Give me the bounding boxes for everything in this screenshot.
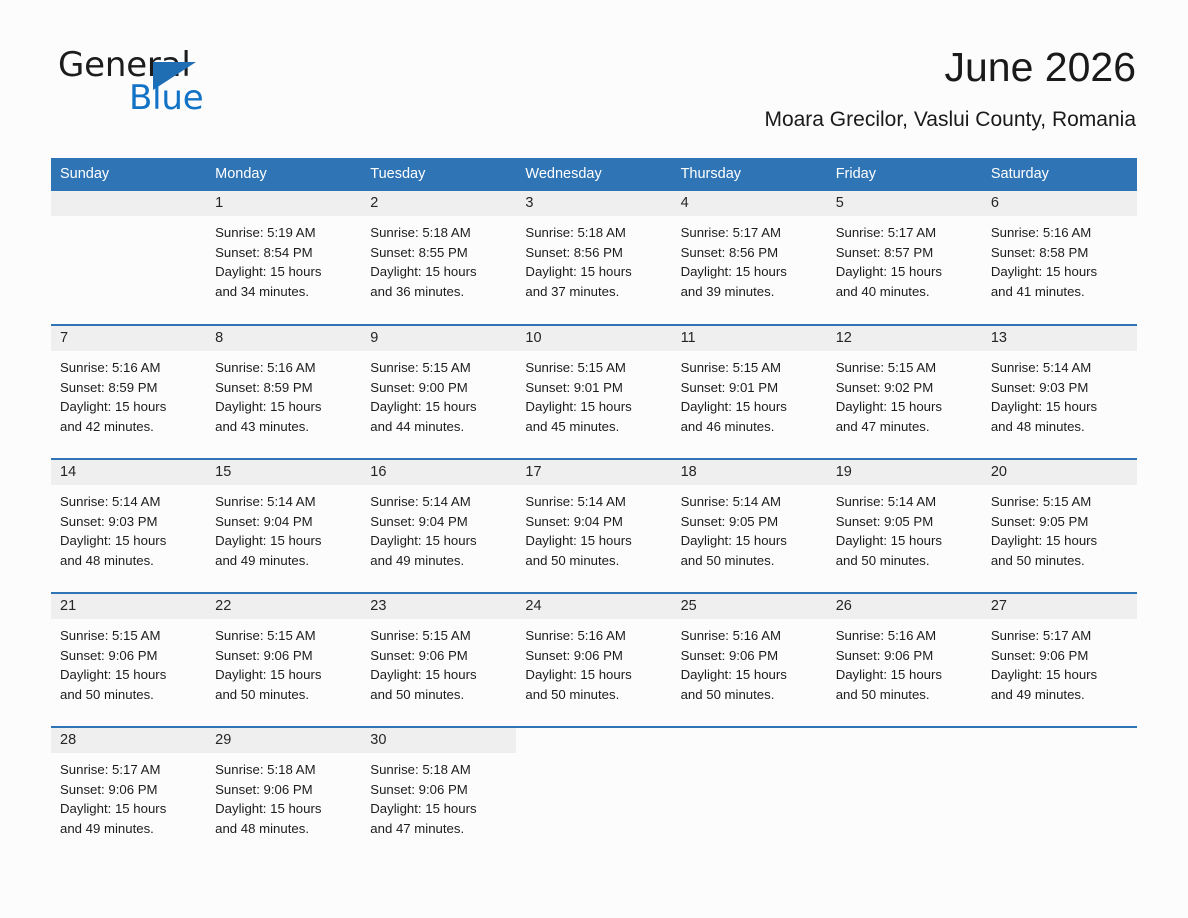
daylight-text: and 50 minutes. [60, 685, 196, 705]
day-sun-info: Sunrise: 5:19 AMSunset: 8:54 PMDaylight:… [206, 216, 361, 301]
sunrise-text: Sunrise: 5:16 AM [836, 626, 972, 646]
sunrise-text: Sunrise: 5:15 AM [836, 358, 972, 378]
daylight-text: Daylight: 15 hours [370, 665, 506, 685]
calendar-week-row: 7Sunrise: 5:16 AMSunset: 8:59 PMDaylight… [51, 325, 1137, 459]
calendar-page: General Blue June 2026 Moara Grecilor, V… [0, 0, 1188, 918]
sunrise-text: Sunrise: 5:16 AM [215, 358, 351, 378]
sunset-text: Sunset: 8:54 PM [215, 243, 351, 263]
day-sun-info: Sunrise: 5:15 AMSunset: 9:02 PMDaylight:… [827, 351, 982, 436]
sunrise-text: Sunrise: 5:17 AM [60, 760, 196, 780]
calendar-day-cell[interactable]: 20Sunrise: 5:15 AMSunset: 9:05 PMDayligh… [982, 459, 1137, 593]
sunrise-text: Sunrise: 5:15 AM [681, 358, 817, 378]
calendar-day-cell[interactable]: 11Sunrise: 5:15 AMSunset: 9:01 PMDayligh… [672, 325, 827, 459]
daylight-text: Daylight: 15 hours [370, 262, 506, 282]
sunset-text: Sunset: 9:06 PM [525, 646, 661, 666]
sunrise-text: Sunrise: 5:16 AM [681, 626, 817, 646]
sunset-text: Sunset: 9:01 PM [525, 378, 661, 398]
daylight-text: Daylight: 15 hours [215, 799, 351, 819]
daylight-text: and 50 minutes. [836, 685, 972, 705]
daylight-text: and 37 minutes. [525, 282, 661, 302]
calendar-day-cell[interactable]: 17Sunrise: 5:14 AMSunset: 9:04 PMDayligh… [516, 459, 671, 593]
daylight-text: and 50 minutes. [836, 551, 972, 571]
daylight-text: and 45 minutes. [525, 417, 661, 437]
calendar-day-cell[interactable]: 27Sunrise: 5:17 AMSunset: 9:06 PMDayligh… [982, 593, 1137, 727]
day-sun-info: Sunrise: 5:14 AMSunset: 9:05 PMDaylight:… [827, 485, 982, 570]
sunrise-text: Sunrise: 5:16 AM [60, 358, 196, 378]
location-subtitle: Moara Grecilor, Vaslui County, Romania [764, 108, 1136, 132]
weekday-header-tuesday: Tuesday [361, 158, 516, 191]
daylight-text: Daylight: 15 hours [681, 262, 817, 282]
calendar-day-cell[interactable]: 6Sunrise: 5:16 AMSunset: 8:58 PMDaylight… [982, 191, 1137, 325]
daylight-text: and 50 minutes. [215, 685, 351, 705]
daylight-text: Daylight: 15 hours [991, 262, 1127, 282]
calendar-empty-cell [516, 727, 671, 861]
calendar-day-cell[interactable]: 24Sunrise: 5:16 AMSunset: 9:06 PMDayligh… [516, 593, 671, 727]
day-number: 11 [672, 326, 827, 351]
sunset-text: Sunset: 9:02 PM [836, 378, 972, 398]
calendar-day-cell[interactable]: 25Sunrise: 5:16 AMSunset: 9:06 PMDayligh… [672, 593, 827, 727]
sunrise-text: Sunrise: 5:16 AM [525, 626, 661, 646]
sunrise-text: Sunrise: 5:15 AM [991, 492, 1127, 512]
daylight-text: Daylight: 15 hours [836, 665, 972, 685]
sunrise-text: Sunrise: 5:18 AM [525, 223, 661, 243]
calendar-day-cell[interactable]: 12Sunrise: 5:15 AMSunset: 9:02 PMDayligh… [827, 325, 982, 459]
sunset-text: Sunset: 8:55 PM [370, 243, 506, 263]
generalblue-logo[interactable]: General Blue [58, 48, 288, 118]
day-number: 2 [361, 191, 516, 216]
day-number: 16 [361, 460, 516, 485]
daylight-text: and 42 minutes. [60, 417, 196, 437]
calendar-empty-cell [982, 727, 1137, 861]
day-sun-info: Sunrise: 5:16 AMSunset: 8:59 PMDaylight:… [206, 351, 361, 436]
day-sun-info: Sunrise: 5:16 AMSunset: 9:06 PMDaylight:… [827, 619, 982, 704]
sunrise-text: Sunrise: 5:14 AM [370, 492, 506, 512]
day-number [982, 728, 1137, 753]
day-sun-info: Sunrise: 5:18 AMSunset: 8:55 PMDaylight:… [361, 216, 516, 301]
sunset-text: Sunset: 8:58 PM [991, 243, 1127, 263]
sunrise-text: Sunrise: 5:15 AM [60, 626, 196, 646]
sunrise-text: Sunrise: 5:15 AM [215, 626, 351, 646]
sunrise-text: Sunrise: 5:17 AM [836, 223, 972, 243]
daylight-text: and 44 minutes. [370, 417, 506, 437]
sunset-text: Sunset: 9:06 PM [215, 646, 351, 666]
weekday-header-monday: Monday [206, 158, 361, 191]
daylight-text: Daylight: 15 hours [525, 397, 661, 417]
daylight-text: and 48 minutes. [991, 417, 1127, 437]
day-number: 22 [206, 594, 361, 619]
sunset-text: Sunset: 8:59 PM [215, 378, 351, 398]
day-number: 5 [827, 191, 982, 216]
sunrise-text: Sunrise: 5:18 AM [370, 223, 506, 243]
day-number: 7 [51, 326, 206, 351]
day-sun-info: Sunrise: 5:15 AMSunset: 9:01 PMDaylight:… [672, 351, 827, 436]
daylight-text: Daylight: 15 hours [836, 262, 972, 282]
day-number: 27 [982, 594, 1137, 619]
daylight-text: Daylight: 15 hours [681, 531, 817, 551]
daylight-text: Daylight: 15 hours [525, 531, 661, 551]
day-sun-info: Sunrise: 5:15 AMSunset: 9:06 PMDaylight:… [206, 619, 361, 704]
day-number: 8 [206, 326, 361, 351]
calendar-day-cell[interactable]: 21Sunrise: 5:15 AMSunset: 9:06 PMDayligh… [51, 593, 206, 727]
page-title: June 2026 [944, 44, 1136, 90]
daylight-text: and 36 minutes. [370, 282, 506, 302]
calendar-day-cell[interactable]: 14Sunrise: 5:14 AMSunset: 9:03 PMDayligh… [51, 459, 206, 593]
calendar-day-cell[interactable]: 28Sunrise: 5:17 AMSunset: 9:06 PMDayligh… [51, 727, 206, 861]
sunset-text: Sunset: 9:06 PM [991, 646, 1127, 666]
day-sun-info: Sunrise: 5:16 AMSunset: 8:59 PMDaylight:… [51, 351, 206, 436]
calendar-day-cell[interactable]: 3Sunrise: 5:18 AMSunset: 8:56 PMDaylight… [516, 191, 671, 325]
calendar-day-cell[interactable]: 10Sunrise: 5:15 AMSunset: 9:01 PMDayligh… [516, 325, 671, 459]
day-sun-info: Sunrise: 5:17 AMSunset: 9:06 PMDaylight:… [51, 753, 206, 838]
daylight-text: and 50 minutes. [525, 551, 661, 571]
sunset-text: Sunset: 9:06 PM [215, 780, 351, 800]
day-number: 12 [827, 326, 982, 351]
daylight-text: Daylight: 15 hours [60, 799, 196, 819]
daylight-text: Daylight: 15 hours [991, 397, 1127, 417]
day-number: 9 [361, 326, 516, 351]
daylight-text: and 50 minutes. [370, 685, 506, 705]
sunset-text: Sunset: 9:04 PM [215, 512, 351, 532]
sunset-text: Sunset: 9:01 PM [681, 378, 817, 398]
sunset-text: Sunset: 8:56 PM [525, 243, 661, 263]
calendar-empty-cell [827, 727, 982, 861]
sunrise-text: Sunrise: 5:18 AM [370, 760, 506, 780]
page-header: General Blue June 2026 Moara Grecilor, V… [0, 0, 1188, 146]
calendar-week-row: 28Sunrise: 5:17 AMSunset: 9:06 PMDayligh… [51, 727, 1137, 861]
day-number [516, 728, 671, 753]
day-sun-info: Sunrise: 5:18 AMSunset: 9:06 PMDaylight:… [206, 753, 361, 838]
daylight-text: Daylight: 15 hours [681, 665, 817, 685]
calendar-day-cell[interactable]: 26Sunrise: 5:16 AMSunset: 9:06 PMDayligh… [827, 593, 982, 727]
sunset-text: Sunset: 9:03 PM [60, 512, 196, 532]
daylight-text: Daylight: 15 hours [991, 531, 1127, 551]
sunset-text: Sunset: 9:04 PM [370, 512, 506, 532]
calendar-day-cell[interactable]: 22Sunrise: 5:15 AMSunset: 9:06 PMDayligh… [206, 593, 361, 727]
calendar-day-cell[interactable]: 9Sunrise: 5:15 AMSunset: 9:00 PMDaylight… [361, 325, 516, 459]
calendar-day-cell[interactable]: 23Sunrise: 5:15 AMSunset: 9:06 PMDayligh… [361, 593, 516, 727]
sunrise-text: Sunrise: 5:14 AM [525, 492, 661, 512]
sunset-text: Sunset: 9:05 PM [836, 512, 972, 532]
weekday-header-thursday: Thursday [672, 158, 827, 191]
day-sun-info: Sunrise: 5:17 AMSunset: 8:56 PMDaylight:… [672, 216, 827, 301]
day-number: 24 [516, 594, 671, 619]
day-sun-info: Sunrise: 5:18 AMSunset: 9:06 PMDaylight:… [361, 753, 516, 838]
sunrise-text: Sunrise: 5:15 AM [370, 358, 506, 378]
sunrise-text: Sunrise: 5:18 AM [215, 760, 351, 780]
day-number: 21 [51, 594, 206, 619]
daylight-text: Daylight: 15 hours [60, 397, 196, 417]
sunrise-text: Sunrise: 5:14 AM [60, 492, 196, 512]
weekday-header-friday: Friday [827, 158, 982, 191]
daylight-text: and 39 minutes. [681, 282, 817, 302]
calendar-day-cell[interactable]: 4Sunrise: 5:17 AMSunset: 8:56 PMDaylight… [672, 191, 827, 325]
daylight-text: Daylight: 15 hours [370, 531, 506, 551]
daylight-text: Daylight: 15 hours [215, 397, 351, 417]
daylight-text: and 47 minutes. [836, 417, 972, 437]
daylight-text: Daylight: 15 hours [60, 665, 196, 685]
sunset-text: Sunset: 9:06 PM [370, 780, 506, 800]
sunrise-text: Sunrise: 5:14 AM [991, 358, 1127, 378]
calendar-day-cell[interactable]: 16Sunrise: 5:14 AMSunset: 9:04 PMDayligh… [361, 459, 516, 593]
daylight-text: and 50 minutes. [681, 551, 817, 571]
calendar-day-cell[interactable]: 18Sunrise: 5:14 AMSunset: 9:05 PMDayligh… [672, 459, 827, 593]
daylight-text: Daylight: 15 hours [525, 665, 661, 685]
daylight-text: and 49 minutes. [370, 551, 506, 571]
day-number: 4 [672, 191, 827, 216]
weekday-header-saturday: Saturday [982, 158, 1137, 191]
daylight-text: Daylight: 15 hours [681, 397, 817, 417]
day-sun-info: Sunrise: 5:14 AMSunset: 9:04 PMDaylight:… [516, 485, 671, 570]
day-number: 18 [672, 460, 827, 485]
sunrise-text: Sunrise: 5:15 AM [370, 626, 506, 646]
sunrise-text: Sunrise: 5:15 AM [525, 358, 661, 378]
day-number: 13 [982, 326, 1137, 351]
sunrise-text: Sunrise: 5:17 AM [681, 223, 817, 243]
sunrise-text: Sunrise: 5:14 AM [215, 492, 351, 512]
daylight-text: and 41 minutes. [991, 282, 1127, 302]
calendar-day-cell[interactable]: 1Sunrise: 5:19 AMSunset: 8:54 PMDaylight… [206, 191, 361, 325]
daylight-text: and 40 minutes. [836, 282, 972, 302]
day-sun-info: Sunrise: 5:17 AMSunset: 8:57 PMDaylight:… [827, 216, 982, 301]
daylight-text: and 50 minutes. [681, 685, 817, 705]
day-sun-info: Sunrise: 5:16 AMSunset: 8:58 PMDaylight:… [982, 216, 1137, 301]
daylight-text: and 50 minutes. [991, 551, 1127, 571]
daylight-text: Daylight: 15 hours [991, 665, 1127, 685]
day-number: 26 [827, 594, 982, 619]
calendar-empty-cell [672, 727, 827, 861]
logo-text-blue: Blue [129, 81, 203, 115]
day-number [672, 728, 827, 753]
calendar-day-cell[interactable]: 7Sunrise: 5:16 AMSunset: 8:59 PMDaylight… [51, 325, 206, 459]
day-sun-info: Sunrise: 5:15 AMSunset: 9:06 PMDaylight:… [51, 619, 206, 704]
calendar-day-cell[interactable]: 13Sunrise: 5:14 AMSunset: 9:03 PMDayligh… [982, 325, 1137, 459]
day-number: 25 [672, 594, 827, 619]
daylight-text: and 46 minutes. [681, 417, 817, 437]
sunset-text: Sunset: 9:06 PM [60, 780, 196, 800]
sunset-text: Sunset: 9:06 PM [681, 646, 817, 666]
daylight-text: and 49 minutes. [60, 819, 196, 839]
day-sun-info: Sunrise: 5:18 AMSunset: 8:56 PMDaylight:… [516, 216, 671, 301]
day-number [51, 191, 206, 216]
calendar-week-row: 21Sunrise: 5:15 AMSunset: 9:06 PMDayligh… [51, 593, 1137, 727]
day-sun-info: Sunrise: 5:15 AMSunset: 9:01 PMDaylight:… [516, 351, 671, 436]
daylight-text: Daylight: 15 hours [836, 397, 972, 417]
day-number: 28 [51, 728, 206, 753]
sunset-text: Sunset: 9:03 PM [991, 378, 1127, 398]
day-number: 1 [206, 191, 361, 216]
day-number: 30 [361, 728, 516, 753]
daylight-text: and 34 minutes. [215, 282, 351, 302]
day-sun-info: Sunrise: 5:14 AMSunset: 9:03 PMDaylight:… [982, 351, 1137, 436]
day-sun-info: Sunrise: 5:15 AMSunset: 9:06 PMDaylight:… [361, 619, 516, 704]
day-sun-info: Sunrise: 5:16 AMSunset: 9:06 PMDaylight:… [516, 619, 671, 704]
daylight-text: and 49 minutes. [215, 551, 351, 571]
day-number: 14 [51, 460, 206, 485]
daylight-text: Daylight: 15 hours [836, 531, 972, 551]
sunset-text: Sunset: 9:06 PM [370, 646, 506, 666]
weekday-header-wednesday: Wednesday [516, 158, 671, 191]
day-number: 29 [206, 728, 361, 753]
calendar-day-cell[interactable]: 5Sunrise: 5:17 AMSunset: 8:57 PMDaylight… [827, 191, 982, 325]
day-sun-info: Sunrise: 5:14 AMSunset: 9:03 PMDaylight:… [51, 485, 206, 570]
day-sun-info: Sunrise: 5:15 AMSunset: 9:00 PMDaylight:… [361, 351, 516, 436]
day-number: 19 [827, 460, 982, 485]
daylight-text: and 48 minutes. [215, 819, 351, 839]
calendar-day-cell[interactable]: 29Sunrise: 5:18 AMSunset: 9:06 PMDayligh… [206, 727, 361, 861]
day-number: 3 [516, 191, 671, 216]
daylight-text: and 50 minutes. [525, 685, 661, 705]
daylight-text: Daylight: 15 hours [525, 262, 661, 282]
calendar-day-cell[interactable]: 15Sunrise: 5:14 AMSunset: 9:04 PMDayligh… [206, 459, 361, 593]
day-number: 15 [206, 460, 361, 485]
day-number: 6 [982, 191, 1137, 216]
calendar-day-cell[interactable]: 19Sunrise: 5:14 AMSunset: 9:05 PMDayligh… [827, 459, 982, 593]
sunset-text: Sunset: 9:00 PM [370, 378, 506, 398]
daylight-text: Daylight: 15 hours [215, 531, 351, 551]
calendar-week-row: 1Sunrise: 5:19 AMSunset: 8:54 PMDaylight… [51, 191, 1137, 325]
day-number: 20 [982, 460, 1137, 485]
day-sun-info: Sunrise: 5:14 AMSunset: 9:05 PMDaylight:… [672, 485, 827, 570]
sunrise-text: Sunrise: 5:14 AM [681, 492, 817, 512]
daylight-text: and 48 minutes. [60, 551, 196, 571]
calendar-day-cell[interactable]: 2Sunrise: 5:18 AMSunset: 8:55 PMDaylight… [361, 191, 516, 325]
weekday-header-sunday: Sunday [51, 158, 206, 191]
sunset-text: Sunset: 9:05 PM [991, 512, 1127, 532]
calendar-body: 1Sunrise: 5:19 AMSunset: 8:54 PMDaylight… [51, 191, 1137, 861]
calendar-day-cell[interactable]: 30Sunrise: 5:18 AMSunset: 9:06 PMDayligh… [361, 727, 516, 861]
day-sun-info: Sunrise: 5:16 AMSunset: 9:06 PMDaylight:… [672, 619, 827, 704]
sunset-text: Sunset: 8:57 PM [836, 243, 972, 263]
sunset-text: Sunset: 8:56 PM [681, 243, 817, 263]
sunrise-text: Sunrise: 5:16 AM [991, 223, 1127, 243]
sunrise-text: Sunrise: 5:19 AM [215, 223, 351, 243]
day-number: 23 [361, 594, 516, 619]
daylight-text: Daylight: 15 hours [215, 665, 351, 685]
day-sun-info: Sunrise: 5:14 AMSunset: 9:04 PMDaylight:… [361, 485, 516, 570]
daylight-text: Daylight: 15 hours [215, 262, 351, 282]
daylight-text: Daylight: 15 hours [370, 799, 506, 819]
daylight-text: and 49 minutes. [991, 685, 1127, 705]
daylight-text: and 47 minutes. [370, 819, 506, 839]
sunset-text: Sunset: 9:04 PM [525, 512, 661, 532]
sunrise-text: Sunrise: 5:14 AM [836, 492, 972, 512]
weekday-header-row: Sunday Monday Tuesday Wednesday Thursday… [51, 158, 1137, 191]
calendar-grid: Sunday Monday Tuesday Wednesday Thursday… [51, 158, 1137, 861]
daylight-text: Daylight: 15 hours [370, 397, 506, 417]
sunset-text: Sunset: 9:06 PM [60, 646, 196, 666]
sunset-text: Sunset: 9:06 PM [836, 646, 972, 666]
sunset-text: Sunset: 8:59 PM [60, 378, 196, 398]
day-number: 17 [516, 460, 671, 485]
day-number: 10 [516, 326, 671, 351]
calendar-empty-cell [51, 191, 206, 325]
daylight-text: Daylight: 15 hours [60, 531, 196, 551]
day-sun-info: Sunrise: 5:14 AMSunset: 9:04 PMDaylight:… [206, 485, 361, 570]
day-sun-info: Sunrise: 5:17 AMSunset: 9:06 PMDaylight:… [982, 619, 1137, 704]
daylight-text: and 43 minutes. [215, 417, 351, 437]
calendar-container: Sunday Monday Tuesday Wednesday Thursday… [51, 158, 1137, 861]
sunset-text: Sunset: 9:05 PM [681, 512, 817, 532]
day-number [827, 728, 982, 753]
day-sun-info: Sunrise: 5:15 AMSunset: 9:05 PMDaylight:… [982, 485, 1137, 570]
sunrise-text: Sunrise: 5:17 AM [991, 626, 1127, 646]
calendar-week-row: 14Sunrise: 5:14 AMSunset: 9:03 PMDayligh… [51, 459, 1137, 593]
calendar-day-cell[interactable]: 8Sunrise: 5:16 AMSunset: 8:59 PMDaylight… [206, 325, 361, 459]
